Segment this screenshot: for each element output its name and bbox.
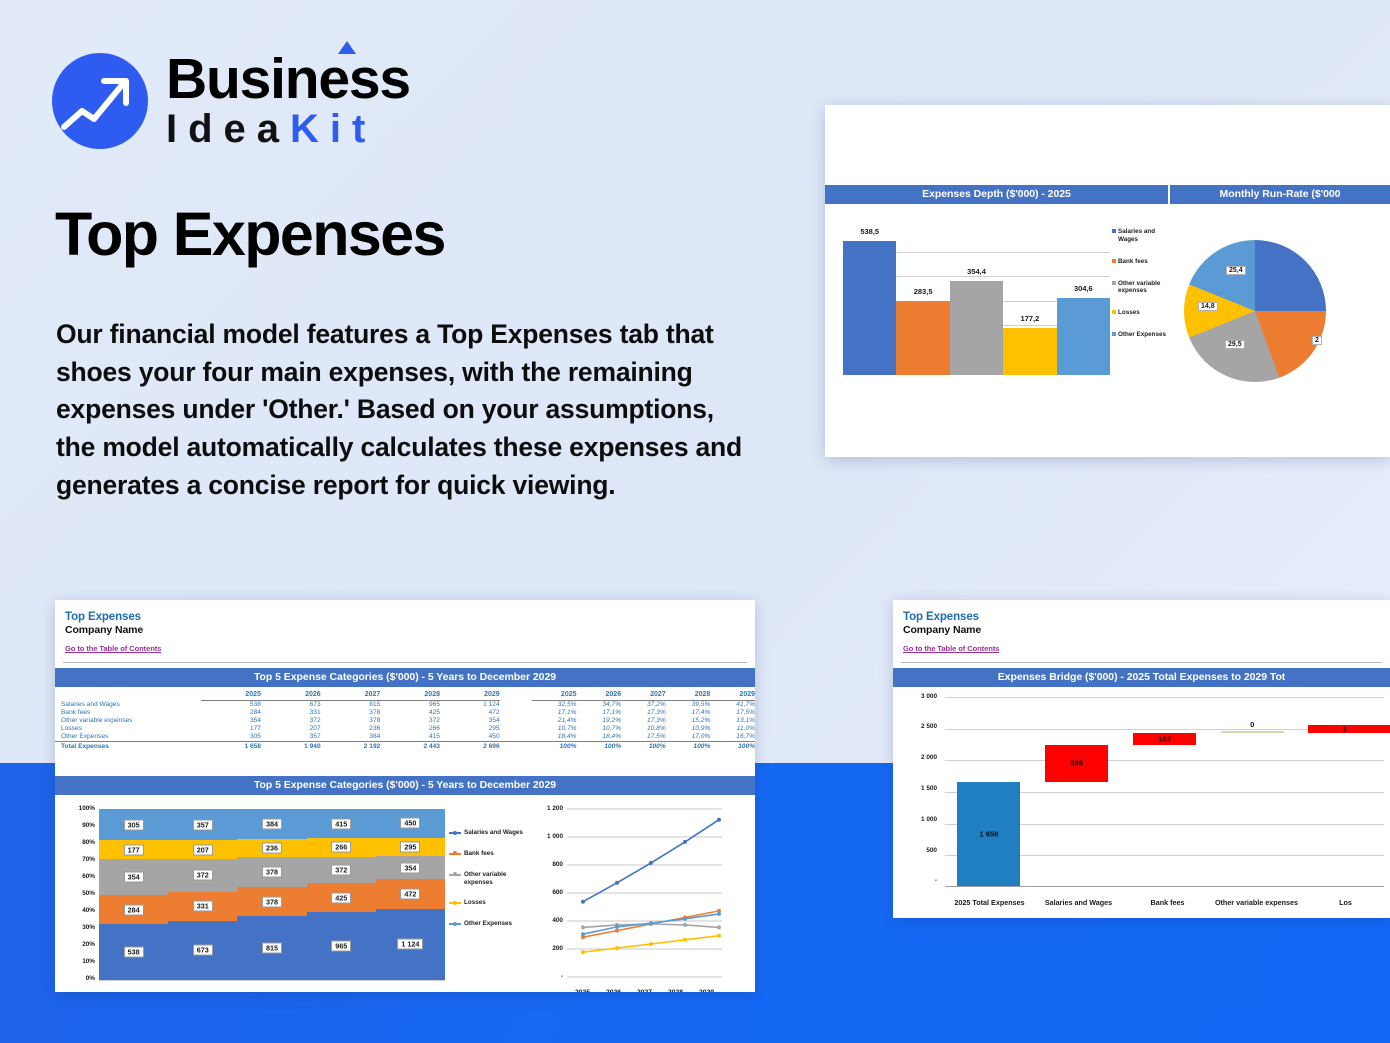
brand-logo: Business IdeaKit	[52, 52, 410, 150]
bar-value-label: 304,6	[1057, 284, 1110, 293]
cell: 17,3%	[621, 717, 666, 725]
cell: 372	[261, 717, 321, 725]
cell: 472	[440, 709, 500, 717]
cell: 284	[201, 709, 261, 717]
col-header-2028: 2028	[380, 690, 440, 700]
cell: 236	[321, 725, 381, 733]
stack-column-2025: 305 177 354 284 538	[99, 809, 168, 980]
segment-label: 384	[262, 818, 282, 829]
bar-value-label: 1 658	[957, 830, 1020, 839]
brand-name-secondary: IdeaKit	[166, 108, 410, 150]
legend-label: Losses	[464, 899, 486, 907]
row-label: Other variable expenses	[55, 717, 201, 725]
waterfall-bar-salaries-and-wages: 585	[1033, 697, 1121, 887]
x-axis-line	[945, 886, 1384, 887]
legend-item-salaries-and-wages: Salaries and Wages	[1112, 228, 1170, 244]
stack-column-2027: 384 236 378 378 815	[237, 809, 306, 980]
cell: 13,1%	[710, 717, 755, 725]
sheet-header: Top Expenses Company Name Go to the Tabl…	[55, 600, 755, 656]
chart-title-expenses-bridge: Expenses Bridge ($'000) - 2025 Total Exp…	[893, 668, 1390, 687]
y-tick: -	[893, 877, 937, 884]
y-tick: 30%	[55, 924, 95, 931]
pct-col-header-2029: 2029	[710, 690, 755, 700]
cell: 2 192	[321, 741, 381, 751]
legend-label: Bank fees	[1118, 258, 1148, 266]
brand-kit-word: Kit	[290, 107, 376, 151]
table-row: Other Expenses 305 357 384 415 450 18,4%…	[55, 733, 755, 742]
cell: 41,7%	[710, 700, 755, 709]
bar-value-label: 354,4	[950, 267, 1003, 276]
y-tick: 0%	[55, 975, 95, 982]
waterfall-series: 1 658 585 189 0	[945, 697, 1384, 887]
legend-item-salaries-and-wages: Salaries and Wages	[449, 829, 523, 837]
cell: 295	[440, 725, 500, 733]
cell: 1 940	[261, 741, 321, 751]
cell: 331	[261, 709, 321, 717]
stack-column-2026: 357 207 372 331 673	[168, 809, 237, 980]
segment-label: 472	[400, 888, 420, 899]
table-row: Other variable expenses 354 372 378 372 …	[55, 717, 755, 725]
expense-categories-table: 2025 2026 2027 2028 2029 2025 2026 2027 …	[55, 690, 755, 776]
cell: 17,1%	[532, 709, 577, 717]
cell: 34,7%	[577, 700, 622, 709]
y-tick: 500	[893, 847, 937, 854]
waterfall-bar-losses: 1	[1296, 697, 1384, 887]
legend-item-other-expenses: Other Expenses	[1112, 331, 1170, 339]
bottom-left-charts-row: 100% 90% 80% 70% 60% 50% 40% 30% 20% 10%…	[55, 795, 755, 992]
page-title: Top Expenses	[55, 202, 445, 266]
stack-column-2029: 450 295 354 472 1 124	[376, 809, 445, 980]
panel-top-5-expense-categories-screenshot: Top Expenses Company Name Go to the Tabl…	[55, 600, 755, 992]
pct-col-header-2025: 2025	[532, 690, 577, 700]
cell: 32,5%	[532, 700, 577, 709]
cell: 357	[261, 733, 321, 742]
legend-item-losses: Losses	[449, 899, 523, 907]
pie-label-losses: 14,8	[1198, 302, 1218, 311]
table-header-row: 2025 2026 2027 2028 2029 2025 2026 2027 …	[55, 690, 755, 700]
waterfall-bar-bank-fees: 189	[1121, 697, 1209, 887]
segment-label: 450	[400, 818, 420, 829]
cell: 538	[201, 700, 261, 709]
stacked-series: 305 177 354 284 538 357 207 372 331 673	[99, 809, 445, 980]
segment-label: 284	[124, 904, 144, 915]
cell: 673	[261, 700, 321, 709]
legend-item-bank-fees: Bank fees	[449, 850, 523, 858]
cell: 17,5%	[621, 733, 666, 742]
cell: 18,4%	[577, 733, 622, 742]
legend-item-other-variable-expenses: Other variable expenses	[449, 871, 523, 887]
pie-label-other-variable-expenses: 29,5	[1225, 340, 1245, 349]
cell: 37,2%	[621, 700, 666, 709]
cell: 425	[380, 709, 440, 717]
x-tick-bank-fees: Bank fees	[1123, 898, 1212, 907]
legend-item-bank-fees: Bank fees	[1112, 258, 1170, 266]
segment-label: 207	[193, 844, 213, 855]
y-tick: 600	[517, 889, 563, 896]
y-tick: 70%	[55, 856, 95, 863]
cell: 207	[261, 725, 321, 733]
chart-expenses-bridge: 3 000 2 500 2 000 1 500 1 000 500 - 1 65…	[893, 687, 1390, 915]
segment-label: 1 124	[397, 939, 423, 950]
legend-label: Salaries and Wages	[1118, 228, 1170, 244]
cell: 21,4%	[532, 717, 577, 725]
x-tick-2028: 2028	[660, 989, 691, 992]
segment-label: 378	[262, 867, 282, 878]
cell: 17,0%	[666, 733, 711, 742]
segment-label: 372	[193, 870, 213, 881]
y-tick: 3 000	[893, 693, 937, 700]
cell: 100%	[666, 741, 711, 751]
cell: 378	[321, 717, 381, 725]
bar-value-label: 177,2	[1003, 314, 1056, 323]
y-tick: 2 000	[893, 754, 937, 761]
segment-label: 354	[400, 862, 420, 873]
bar-salaries-and-wages: 538,5	[843, 241, 896, 375]
x-tick-2027: 2027	[629, 989, 660, 992]
bar-value-label: 0	[1221, 720, 1284, 729]
chart-band-row: Expenses Depth ($'000) - 2025 Monthly Ru…	[825, 185, 1390, 204]
plot-area	[567, 807, 722, 979]
pie-series	[1184, 240, 1326, 382]
plot-area: 1 658 585 189 0	[945, 697, 1384, 887]
segment-label: 295	[400, 841, 420, 852]
legend-label: Other variable expenses	[1118, 280, 1170, 296]
cell: 815	[321, 700, 381, 709]
cell: 10,9%	[666, 725, 711, 733]
x-tick-2029: 2029	[691, 989, 722, 992]
cell: 372	[380, 717, 440, 725]
trend-arrow-circle-icon	[52, 53, 148, 149]
legend-label: Other variable expenses	[464, 871, 523, 887]
segment-label: 673	[193, 945, 213, 956]
bar-other-variable-expenses: 354,4	[950, 281, 1003, 375]
y-tick: 40%	[55, 907, 95, 914]
col-header-2026: 2026	[261, 690, 321, 700]
cell: 100%	[577, 741, 622, 751]
row-label: Losses	[55, 725, 201, 733]
sheet-title: Top Expenses	[65, 610, 755, 624]
waterfall-bar-2025-total-expenses: 1 658	[945, 697, 1033, 887]
bar-value-label: 189	[1133, 734, 1196, 743]
y-tick: -	[517, 973, 563, 980]
segment-label: 425	[331, 892, 351, 903]
cell: 305	[201, 733, 261, 742]
cell: 1 658	[201, 741, 261, 751]
segment-label: 357	[193, 819, 213, 830]
x-tick-2025: 2025	[567, 989, 598, 992]
cell: 100%	[532, 741, 577, 751]
chart-stacked-expense-categories: 100% 90% 80% 70% 60% 50% 40% 30% 20% 10%…	[55, 795, 525, 992]
row-label: Salaries and Wages	[55, 700, 201, 709]
sheet-company-name: Company Name	[65, 624, 755, 638]
y-tick: 50%	[55, 890, 95, 897]
segment-label: 965	[331, 941, 351, 952]
y-tick: 1 200	[517, 805, 563, 812]
pie-label-other-expenses: 25,4	[1226, 266, 1246, 275]
cell: 10,7%	[532, 725, 577, 733]
divider	[63, 662, 747, 663]
chart-legend: Salaries and Wages Bank fees Other varia…	[1112, 228, 1170, 353]
cell: 177	[201, 725, 261, 733]
segment-label: 354	[124, 872, 144, 883]
row-label: Bank fees	[55, 709, 201, 717]
cell: 266	[380, 725, 440, 733]
circumflex-accent-icon	[338, 41, 356, 54]
y-tick: 1 000	[893, 816, 937, 823]
legend-label: Bank fees	[464, 850, 494, 858]
divider	[901, 662, 1382, 663]
cell: 415	[380, 733, 440, 742]
legend-item-other-expenses: Other Expenses	[449, 920, 523, 928]
cell: 10,7%	[577, 725, 622, 733]
x-tick-2026: 2026	[598, 989, 629, 992]
segment-label: 177	[124, 844, 144, 855]
cell: 17,3%	[621, 709, 666, 717]
sheet-header: Top Expenses Company Name Go to the Tabl…	[893, 600, 1390, 656]
legend-label: Salaries and Wages	[464, 829, 523, 837]
chart-line-expense-categories: 1 200 1 000 800 600 400 200 -	[525, 795, 755, 992]
top-charts-row: 538,5 283,5 354,4 177,2	[825, 204, 1390, 399]
sheet-company-name: Company Name	[903, 624, 1390, 638]
col-header-2025: 2025	[201, 690, 261, 700]
row-label: Total Expenses	[55, 741, 201, 751]
cell: 2 696	[440, 741, 500, 751]
chart-legend: Salaries and Wages Bank fees Other varia…	[449, 829, 523, 941]
cell: 10,8%	[621, 725, 666, 733]
chart-title-band-stacked: Top 5 Expense Categories ($'000) - 5 Yea…	[55, 776, 755, 795]
segment-label: 372	[331, 864, 351, 875]
cell: 2 443	[380, 741, 440, 751]
table-row: Salaries and Wages 538 673 815 965 1 124…	[55, 700, 755, 709]
cell: 15,2%	[666, 717, 711, 725]
brand-idea-word: Idea	[166, 107, 290, 151]
legend-label: Losses	[1118, 309, 1140, 317]
y-tick: 1 000	[517, 833, 563, 840]
chart-expenses-depth-2025: 538,5 283,5 354,4 177,2	[825, 212, 1170, 387]
pct-col-header-2026: 2026	[577, 690, 622, 700]
table-row: Losses 177 207 236 266 295 10,7% 10,7% 1…	[55, 725, 755, 733]
bar-losses: 177,2	[1003, 328, 1056, 375]
chart-title-expenses-depth: Expenses Depth ($'000) - 2025	[825, 185, 1170, 204]
table-of-contents-link[interactable]: Go to the Table of Contents	[903, 644, 999, 653]
bar-bank-fees: 283,5	[896, 301, 949, 375]
cell: 450	[440, 733, 500, 742]
y-tick: 80%	[55, 839, 95, 846]
table-of-contents-link[interactable]: Go to the Table of Contents	[65, 644, 161, 653]
x-tick-other-variable-expenses: Other variable expenses	[1212, 898, 1301, 907]
cell: 354	[201, 717, 261, 725]
segment-label: 815	[262, 943, 282, 954]
bar-value-label: 538,5	[843, 227, 896, 236]
cell: 39,5%	[666, 700, 711, 709]
y-tick: 1 500	[893, 785, 937, 792]
plot-area: 305 177 354 284 538 357 207 372 331 673	[99, 809, 445, 980]
col-header-2027: 2027	[321, 690, 381, 700]
pie-label-bank-fees: 2	[1312, 336, 1322, 345]
cell: 17,1%	[577, 709, 622, 717]
segment-label: 305	[124, 819, 144, 830]
brand-name-primary: Business	[166, 52, 410, 106]
cell: 16,7%	[710, 733, 755, 742]
segment-label: 415	[331, 818, 351, 829]
y-tick: 90%	[55, 822, 95, 829]
x-axis-labels: 2025 2026 2027 2028 2029	[567, 989, 722, 992]
y-tick: 100%	[55, 805, 95, 812]
bar-series: 538,5 283,5 354,4 177,2	[843, 232, 1110, 375]
stack-column-2028: 415 266 372 425 965	[307, 809, 376, 980]
y-tick: 400	[517, 917, 563, 924]
table-title-band: Top 5 Expense Categories ($'000) - 5 Yea…	[55, 668, 755, 687]
pct-col-header-2027: 2027	[621, 690, 666, 700]
pct-col-header-2028: 2028	[666, 690, 711, 700]
cell: 354	[440, 717, 500, 725]
intro-paragraph: Our financial model features a Top Expen…	[56, 316, 756, 504]
x-tick-losses: Los	[1301, 898, 1390, 907]
cell: 965	[380, 700, 440, 709]
row-label: Other Expenses	[55, 733, 201, 742]
bar-value-label: 1	[1308, 725, 1390, 734]
cell: 11,0%	[710, 725, 755, 733]
bar-value-label: 585	[1045, 759, 1108, 768]
segment-label: 378	[262, 896, 282, 907]
cell: 17,4%	[666, 709, 711, 717]
legend-item-other-variable-expenses: Other variable expenses	[1112, 280, 1170, 296]
chart-title-monthly-run-rate: Monthly Run-Rate ($'000	[1170, 185, 1390, 204]
segment-label: 236	[262, 843, 282, 854]
cell: 1 124	[440, 700, 500, 709]
cell: 17,5%	[710, 709, 755, 717]
cell: 384	[321, 733, 381, 742]
y-tick: 2 500	[893, 723, 937, 730]
y-tick: 60%	[55, 873, 95, 880]
bar-value-label: 283,5	[896, 287, 949, 296]
chart-monthly-run-rate: 25,4 14,8 29,5 2	[1170, 212, 1390, 387]
sheet-title: Top Expenses	[903, 610, 1390, 624]
x-tick-2025-total-expenses: 2025 Total Expenses	[945, 898, 1034, 907]
panel-expenses-bridge-screenshot: Top Expenses Company Name Go to the Tabl…	[893, 600, 1390, 918]
table-total-row: Total Expenses 1 658 1 940 2 192 2 443 2…	[55, 741, 755, 751]
segment-label: 331	[193, 901, 213, 912]
col-header-2029: 2029	[440, 690, 500, 700]
segment-label: 266	[331, 842, 351, 853]
x-tick-salaries-and-wages: Salaries and Wages	[1034, 898, 1123, 907]
waterfall-bar-other-variable-expenses: 0	[1208, 697, 1296, 887]
segment-label: 538	[124, 947, 144, 958]
cell: 100%	[710, 741, 755, 751]
legend-label: Other Expenses	[1118, 331, 1166, 339]
cell: 100%	[621, 741, 666, 751]
y-tick: 20%	[55, 941, 95, 948]
y-tick: 800	[517, 861, 563, 868]
legend-label: Other Expenses	[464, 920, 512, 928]
y-tick: 10%	[55, 958, 95, 965]
cell: 19,2%	[577, 717, 622, 725]
cell: 378	[321, 709, 381, 717]
panel-expenses-depth-screenshot: Expenses Depth ($'000) - 2025 Monthly Ru…	[825, 105, 1390, 457]
table-row: Bank fees 284 331 378 425 472 17,1% 17,1…	[55, 709, 755, 717]
y-tick: 200	[517, 945, 563, 952]
plot-area: 538,5 283,5 354,4 177,2	[843, 232, 1110, 375]
legend-item-losses: Losses	[1112, 309, 1170, 317]
bar-other-expenses: 304,6	[1057, 298, 1110, 375]
cell: 18,4%	[532, 733, 577, 742]
